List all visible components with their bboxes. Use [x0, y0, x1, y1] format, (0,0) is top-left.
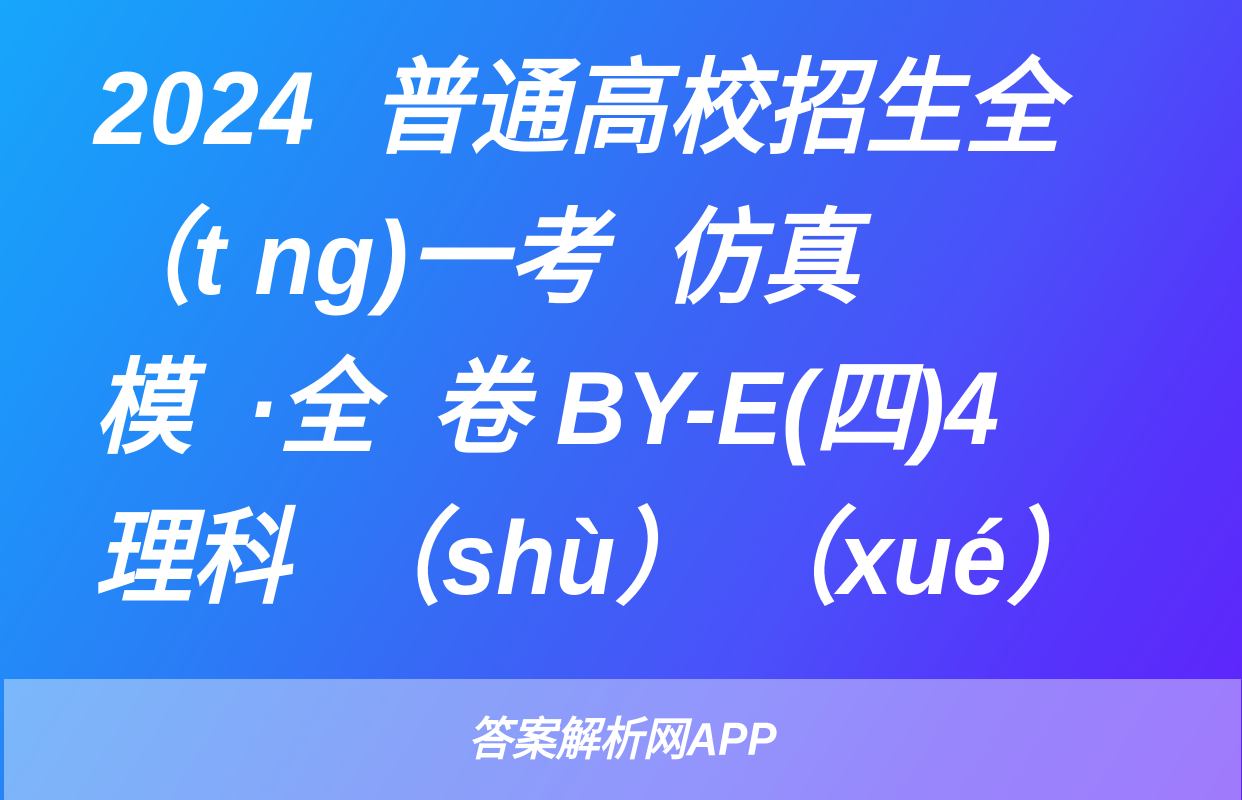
title-line-1: 2024 普通高校招生全	[0, 34, 1167, 184]
title-line-2: （t ng)一考 仿真	[0, 184, 1167, 334]
poster-canvas: 2024 普通高校招生全 （t ng)一考 仿真 模 ·全 卷 BY-E(四)4…	[0, 0, 1242, 800]
watermark-app-label: 答案解析网APP	[468, 716, 776, 764]
watermark-banner: 答案解析网APP	[4, 679, 1241, 800]
title-block: 2024 普通高校招生全 （t ng)一考 仿真 模 ·全 卷 BY-E(四)4…	[0, 0, 1242, 634]
title-line-4: 理科 （shù） （xué）	[0, 484, 1167, 634]
title-line-3: 模 ·全 卷 BY-E(四)4	[0, 334, 1167, 484]
